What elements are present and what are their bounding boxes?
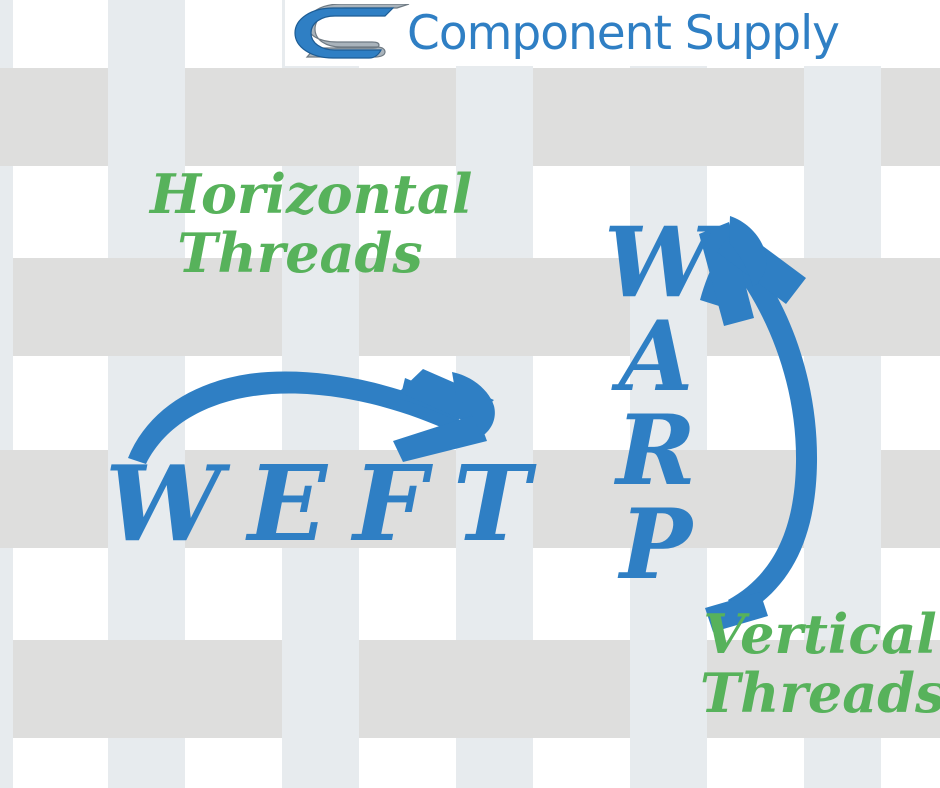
brand-name: Component Supply [407, 10, 839, 57]
weft-arrow-icon [128, 369, 495, 464]
arrow-overlay [0, 0, 940, 788]
weaving-infographic: Component Supply Horizontal Threads Vert… [0, 0, 940, 788]
warp-arrow-icon [699, 216, 817, 632]
brand-header: Component Supply [285, 0, 940, 66]
cs-monogram-logo-icon [289, 4, 411, 62]
